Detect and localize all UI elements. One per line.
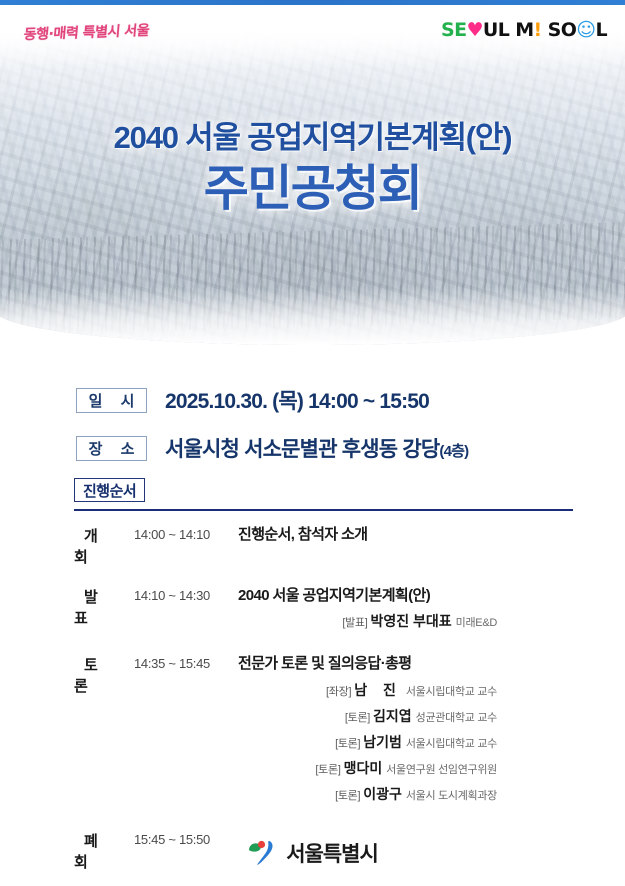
program-row-body: 2040 서울 공업지역기본계획(안) [발표]박영진 부대표미래E&D xyxy=(238,586,625,635)
program-row-title: 2040 서울 공업지역기본계획(안) xyxy=(238,586,625,606)
heart-icon: ♥ xyxy=(466,21,482,40)
person-name: 이광구 xyxy=(363,786,402,802)
logo-letters-se: SE xyxy=(441,21,466,40)
header-logo-row: 동행·매력 특별시 서울 SE♥ULM!SO☺L xyxy=(0,5,625,63)
program-row-title: 진행순서, 참석자 소개 xyxy=(238,525,625,545)
logo-letters-so: SO xyxy=(548,21,577,40)
program-row-time: 14:35 ~ 15:45 xyxy=(134,654,238,671)
program-row-name: 개 회 xyxy=(74,525,134,567)
person-role: [토론] xyxy=(345,712,370,724)
top-accent-bar xyxy=(0,0,625,5)
info-label-venue: 장 소 xyxy=(76,436,147,461)
program-row-body: 전문가 토론 및 질의응답·총평 [좌장]남 진서울시립대학교 교수 [토론]김… xyxy=(238,654,625,808)
list-item: [토론]이광구서울시 도시계획과장 xyxy=(238,782,497,808)
list-item: [토론]남기범서울시립대학교 교수 xyxy=(238,730,497,756)
program-row-name: 토 론 xyxy=(74,654,134,696)
person-role: [좌장] xyxy=(326,686,351,698)
person-affiliation: 미래E&D xyxy=(456,617,497,629)
logo-letter-l: L xyxy=(595,21,607,40)
exclamation-icon: ! xyxy=(534,21,542,40)
poster-title: 2040 서울 공업지역기본계획(안) 주민공청회 xyxy=(0,120,625,218)
program-row-time: 14:00 ~ 14:10 xyxy=(134,525,238,542)
seoul-slogan-logo: 동행·매력 특별시 서울 xyxy=(24,17,149,47)
poster-root: 동행·매력 특별시 서울 SE♥ULM!SO☺L 2040 서울 공업지역기본계… xyxy=(0,0,625,886)
program-row-name: 발 표 xyxy=(74,586,134,628)
list-item: [토론]맹다미서울연구원 선임연구위원 xyxy=(238,756,497,782)
program-heading-wrap: 진행순서 xyxy=(0,478,625,502)
program-section: 진행순서 개 회 14:00 ~ 14:10 진행순서, 참석자 소개 발 표 … xyxy=(0,478,625,886)
info-value-venue-main: 서울시청 서소문별관 후생동 강당 xyxy=(165,438,439,461)
list-item: [발표]박영진 부대표미래E&D xyxy=(342,613,497,630)
photo-bottom-fade xyxy=(0,287,625,345)
info-label-datetime: 일 시 xyxy=(76,388,147,413)
program-table: 개 회 14:00 ~ 14:10 진행순서, 참석자 소개 발 표 14:10… xyxy=(0,525,625,872)
program-row-time: 14:10 ~ 14:30 xyxy=(134,586,238,603)
person-name: 김지엽 xyxy=(373,708,412,724)
person-role: [토론] xyxy=(335,790,360,802)
panelist-list: [좌장]남 진서울시립대학교 교수 [토론]김지엽성균관대학교 교수 [토론]남… xyxy=(238,678,625,808)
info-value-venue-floor: (4층) xyxy=(439,443,468,460)
person-name: 박영진 부대표 xyxy=(370,613,451,629)
presenter-list: [발표]박영진 부대표미래E&D xyxy=(238,609,625,635)
person-affiliation: 서울시립대학교 교수 xyxy=(406,738,497,750)
info-row-venue: 장 소 서울시청 서소문별관 후생동 강당(4층) xyxy=(0,433,625,463)
seoul-slogan-text: 동행·매력 특별시 서울 xyxy=(23,20,150,44)
logo-letters-ul: UL xyxy=(483,21,509,40)
list-item: [토론]김지엽성균관대학교 교수 xyxy=(238,704,497,730)
person-name: 맹다미 xyxy=(344,760,383,776)
smiley-icon: ☺ xyxy=(576,21,595,40)
person-affiliation: 서울연구원 선임연구위원 xyxy=(386,764,497,776)
person-affiliation: 서울시 도시계획과장 xyxy=(406,790,497,802)
info-value-datetime: 2025.10.30. (목) 14:00 ~ 15:50 xyxy=(165,385,429,415)
person-name: 남 진 xyxy=(354,682,402,698)
person-role: [토론] xyxy=(335,738,360,750)
info-value-venue: 서울시청 서소문별관 후생동 강당(4층) xyxy=(165,433,468,463)
program-row-presentation: 발 표 14:10 ~ 14:30 2040 서울 공업지역기본계획(안) [발… xyxy=(74,586,625,635)
info-row-datetime: 일 시 2025.10.30. (목) 14:00 ~ 15:50 xyxy=(0,385,625,415)
title-subject-line: 2040 서울 공업지역기본계획(안) xyxy=(0,120,625,157)
person-affiliation: 서울시립대학교 교수 xyxy=(406,686,497,698)
program-row-title: 전문가 토론 및 질의응답·총평 xyxy=(238,654,625,674)
list-item: [좌장]남 진서울시립대학교 교수 xyxy=(238,678,497,704)
seoul-city-emblem-icon xyxy=(247,839,279,867)
program-top-divider xyxy=(74,509,573,511)
program-heading: 진행순서 xyxy=(74,478,145,502)
program-row-opening: 개 회 14:00 ~ 14:10 진행순서, 참석자 소개 xyxy=(74,525,625,567)
person-affiliation: 성균관대학교 교수 xyxy=(416,712,497,724)
event-info-section: 일 시 2025.10.30. (목) 14:00 ~ 15:50 장 소 서울… xyxy=(0,385,625,481)
footer-organization-name: 서울특별시 xyxy=(286,838,378,868)
person-role: [토론] xyxy=(315,764,340,776)
person-name: 남기범 xyxy=(363,734,402,750)
logo-letter-m: M xyxy=(515,21,533,40)
program-row-discussion: 토 론 14:35 ~ 15:45 전문가 토론 및 질의응답·총평 [좌장]남… xyxy=(74,654,625,808)
person-role: [발표] xyxy=(342,617,367,629)
footer-branding: 서울특별시 xyxy=(0,838,625,868)
seoul-my-soul-logo: SE♥ULM!SO☺L xyxy=(441,21,607,40)
title-event-line: 주민공청회 xyxy=(0,161,625,219)
program-row-body: 진행순서, 참석자 소개 xyxy=(238,525,625,545)
info-value-datetime-main: 2025.10.30. (목) 14:00 ~ 15:50 xyxy=(165,390,429,413)
